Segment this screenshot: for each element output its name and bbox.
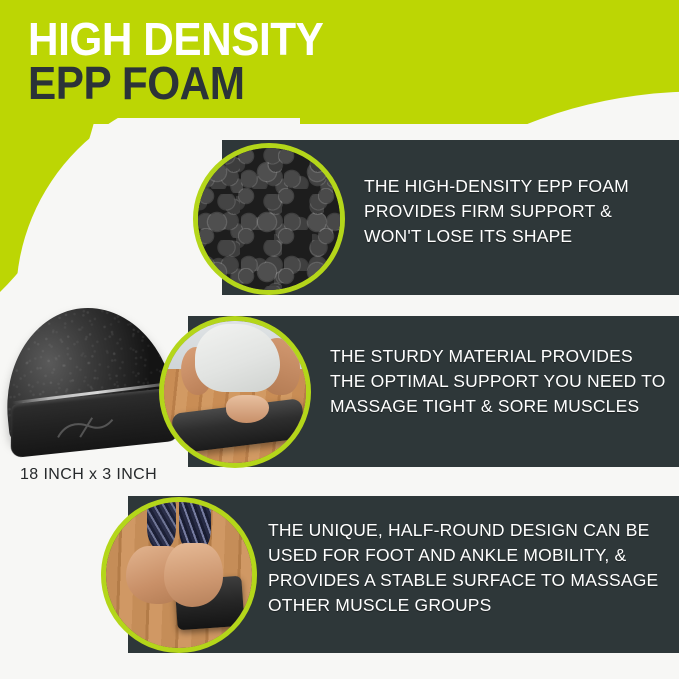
feature-1-line-2: PROVIDES FIRM SUPPORT & bbox=[364, 199, 664, 224]
feature-3-line-1: THE UNIQUE, HALF-ROUND DESIGN CAN BE bbox=[268, 518, 668, 543]
half-round-foam-roller bbox=[0, 300, 179, 457]
feature-panel-2-text: THE STURDY MATERIAL PROVIDES THE OPTIMAL… bbox=[330, 344, 670, 419]
upper-body-massage-photo bbox=[164, 321, 306, 463]
header-curve-decoration bbox=[324, 74, 679, 124]
feature-panel-3-text: THE UNIQUE, HALF-ROUND DESIGN CAN BE USE… bbox=[268, 518, 668, 617]
foam-texture-photo bbox=[198, 148, 340, 290]
title-line-2: EPP FOAM bbox=[28, 62, 323, 104]
feature-3-line-3: PROVIDES A STABLE SURFACE TO MASSAGE bbox=[268, 568, 668, 593]
scene3-legging-left bbox=[147, 497, 176, 549]
feature-1-line-1: THE HIGH-DENSITY EPP FOAM bbox=[364, 174, 664, 199]
feature-3-line-4: OTHER MUSCLE GROUPS bbox=[268, 593, 668, 618]
feature-2-line-3: MASSAGE TIGHT & SORE MUSCLES bbox=[330, 394, 670, 419]
feature-image-foam-texture bbox=[193, 143, 345, 295]
feature-2-line-1: THE STURDY MATERIAL PROVIDES bbox=[330, 344, 670, 369]
product-infographic: HIGH DENSITY EPP FOAM THE HIGH-DENSITY E… bbox=[0, 0, 679, 679]
feature-image-upper-body-massage bbox=[159, 316, 311, 468]
scene3-foot-right bbox=[164, 543, 222, 607]
feature-2-line-2: THE OPTIMAL SUPPORT YOU NEED TO bbox=[330, 369, 670, 394]
page-title: HIGH DENSITY EPP FOAM bbox=[28, 18, 349, 105]
foot-ankle-photo bbox=[106, 502, 252, 648]
feature-image-foot-ankle-mobility bbox=[101, 497, 257, 653]
title-line-1: HIGH DENSITY bbox=[28, 18, 323, 60]
product-dimension-label: 18 INCH x 3 INCH bbox=[20, 466, 157, 484]
feature-panel-1-text: THE HIGH-DENSITY EPP FOAM PROVIDES FIRM … bbox=[364, 174, 664, 249]
feature-3-line-2: USED FOR FOOT AND ANKLE MOBILITY, & bbox=[268, 543, 668, 568]
feature-1-line-3: WON'T LOSE ITS SHAPE bbox=[364, 224, 664, 249]
